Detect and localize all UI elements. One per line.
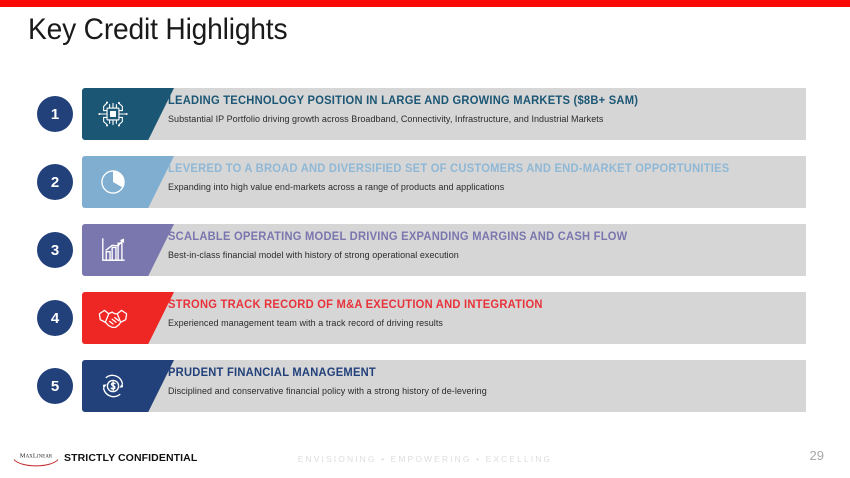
list-item: 2 LEVERED TO A BROAD AND DIVERSIFIED SET…: [0, 156, 850, 208]
highlight-badge-1: 1: [37, 96, 73, 132]
highlight-headline-2: LEVERED TO A BROAD AND DIVERSIFIED SET O…: [168, 163, 777, 177]
highlight-subline-4: Experienced management team with a track…: [168, 318, 796, 329]
highlight-subline-2: Expanding into high value end-markets ac…: [168, 182, 796, 193]
handshake-icon: [96, 301, 130, 335]
highlight-bar-4: STRONG TRACK RECORD OF M&A EXECUTION AND…: [82, 292, 806, 344]
highlight-headline-1: LEADING TECHNOLOGY POSITION IN LARGE AND…: [168, 95, 777, 109]
list-item: 4 STRONG TRACK RECORD OF M&A EXECUT: [0, 292, 850, 344]
highlight-subline-5: Disciplined and conservative financial p…: [168, 386, 796, 397]
microchip-icon: [96, 97, 130, 131]
highlight-bar-1: LEADING TECHNOLOGY POSITION IN LARGE AND…: [82, 88, 806, 140]
highlight-text-3: SCALABLE OPERATING MODEL DRIVING EXPANDI…: [168, 231, 796, 261]
highlight-text-2: LEVERED TO A BROAD AND DIVERSIFIED SET O…: [168, 163, 796, 193]
highlight-badge-2: 2: [37, 164, 73, 200]
highlight-headline-5: PRUDENT FINANCIAL MANAGEMENT: [168, 367, 777, 381]
highlight-icon-panel-2: [82, 156, 174, 208]
list-item: 3 SCALABLE OPERATING MODEL DRIVING EXPAN…: [0, 224, 850, 276]
highlight-subline-3: Best-in-class financial model with histo…: [168, 250, 796, 261]
bar-chart-growth-icon: [96, 233, 130, 267]
highlight-icon-panel-3: [82, 224, 174, 276]
highlight-headline-3: SCALABLE OPERATING MODEL DRIVING EXPANDI…: [168, 231, 777, 245]
highlight-bar-5: PRUDENT FINANCIAL MANAGEMENT Disciplined…: [82, 360, 806, 412]
highlight-badge-3: 3: [37, 232, 73, 268]
list-item: 1: [0, 88, 850, 140]
top-accent-bar: [0, 0, 850, 7]
highlight-badge-4: 4: [37, 300, 73, 336]
highlight-text-5: PRUDENT FINANCIAL MANAGEMENT Disciplined…: [168, 367, 796, 397]
highlight-headline-4: STRONG TRACK RECORD OF M&A EXECUTION AND…: [168, 299, 777, 313]
highlight-icon-panel-1: [82, 88, 174, 140]
highlight-bar-2: LEVERED TO A BROAD AND DIVERSIFIED SET O…: [82, 156, 806, 208]
highlight-subline-1: Substantial IP Portfolio driving growth …: [168, 114, 796, 125]
highlights-list: 1: [0, 88, 850, 428]
pie-chart-icon: [96, 165, 130, 199]
highlight-text-1: LEADING TECHNOLOGY POSITION IN LARGE AND…: [168, 95, 796, 125]
dollar-refresh-icon: [96, 369, 130, 403]
highlight-badge-5: 5: [37, 368, 73, 404]
slide-footer: MAXLINEAR STRICTLY CONFIDENTIAL ENVISION…: [0, 440, 850, 478]
page-title: Key Credit Highlights: [28, 13, 287, 47]
highlight-icon-panel-4: [82, 292, 174, 344]
footer-tagline: ENVISIONING • EMPOWERING • EXCELLING: [0, 454, 850, 464]
page-number: 29: [810, 448, 824, 463]
highlight-icon-panel-5: [82, 360, 174, 412]
highlight-bar-3: SCALABLE OPERATING MODEL DRIVING EXPANDI…: [82, 224, 806, 276]
highlight-text-4: STRONG TRACK RECORD OF M&A EXECUTION AND…: [168, 299, 796, 329]
list-item: 5 PRUDENT FINANCIAL MANAGEMENT: [0, 360, 850, 412]
